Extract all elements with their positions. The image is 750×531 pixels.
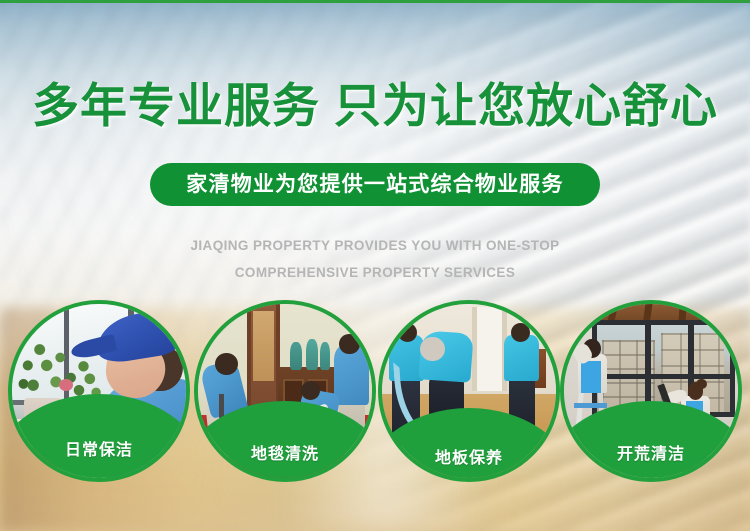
service-circle-daily-cleaning[interactable]: 日常保洁	[8, 300, 190, 482]
teal-vase-a	[290, 342, 302, 370]
worker1-head	[398, 323, 417, 342]
worker1-head	[215, 353, 238, 376]
service-label-post-construction-cleaning: 开荒清洁	[564, 440, 738, 464]
service-circle-carpet-cleaning[interactable]: 地毯清洗	[194, 300, 376, 482]
worker3-head	[511, 323, 530, 342]
window-mullion-1	[645, 325, 651, 412]
rose-bloom	[59, 379, 73, 391]
door-panel	[253, 311, 274, 381]
subtitle-english: JIAQING PROPERTY PROVIDES YOU WITH ONE-S…	[0, 232, 750, 286]
door-frame	[472, 307, 507, 391]
service-circle-row: 日常保洁	[0, 300, 750, 486]
worker3-head	[339, 334, 360, 355]
top-accent-rule	[0, 0, 750, 3]
worker2-head	[301, 381, 320, 400]
service-label-floor-maintenance: 地板保养	[382, 444, 556, 468]
worker1-apron	[581, 361, 600, 392]
service-label-carpet-cleaning: 地毯清洗	[198, 440, 372, 464]
service-circle-floor-maintenance[interactable]: 地板保养	[378, 300, 560, 482]
teal-vase-c	[320, 342, 330, 370]
tagline-pill-container: 家清物业为您提供一站式综合物业服务	[0, 163, 750, 206]
subtitle-english-line-2: COMPREHENSIVE PROPERTY SERVICES	[0, 259, 750, 286]
tagline-pill: 家清物业为您提供一站式综合物业服务	[150, 163, 599, 206]
ladder-step-1	[574, 403, 607, 408]
page-title: 多年专业服务 只为让您放心舒心	[0, 82, 750, 129]
worker2-head	[688, 382, 704, 399]
service-label-daily-cleaning: 日常保洁	[12, 436, 186, 460]
subtitle-english-line-1: JIAQING PROPERTY PROVIDES YOU WITH ONE-S…	[0, 232, 750, 259]
worker3-cyan-polo	[504, 335, 539, 380]
promotional-banner: 多年专业服务 只为让您放心舒心 家清物业为您提供一站式综合物业服务 JIAQIN…	[0, 0, 750, 531]
window-transom	[597, 374, 730, 379]
worker3-shirt	[334, 346, 369, 405]
teal-vase-b	[306, 339, 318, 370]
service-circle-post-construction-cleaning[interactable]: 开荒清洁	[560, 300, 742, 482]
